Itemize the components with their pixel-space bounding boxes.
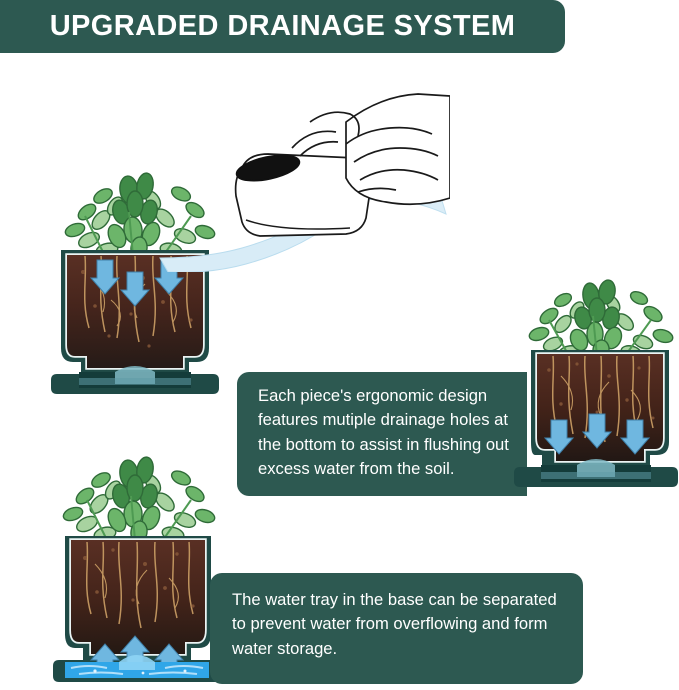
planter-right [513,272,679,497]
plant-foliage [62,456,217,544]
planter-bottom-left [45,440,230,690]
infographic-page: UPGRADED DRAINAGE SYSTEM [0,0,679,690]
page-title: UPGRADED DRAINAGE SYSTEM [50,10,516,43]
callout-water-tray: The water tray in the base can be separa… [210,573,583,684]
callout-drainage-holes: Each piece's ergonomic design features m… [237,372,527,496]
callout-water-tray-text: The water tray in the base can be separa… [232,588,569,661]
header-banner: UPGRADED DRAINAGE SYSTEM [0,0,565,53]
callout-drainage-holes-text: Each piece's ergonomic design features m… [258,384,517,482]
hand-pouring-watering-can [150,82,450,272]
water-flow-arrows-down [545,414,649,454]
plant-foliage [528,279,675,361]
